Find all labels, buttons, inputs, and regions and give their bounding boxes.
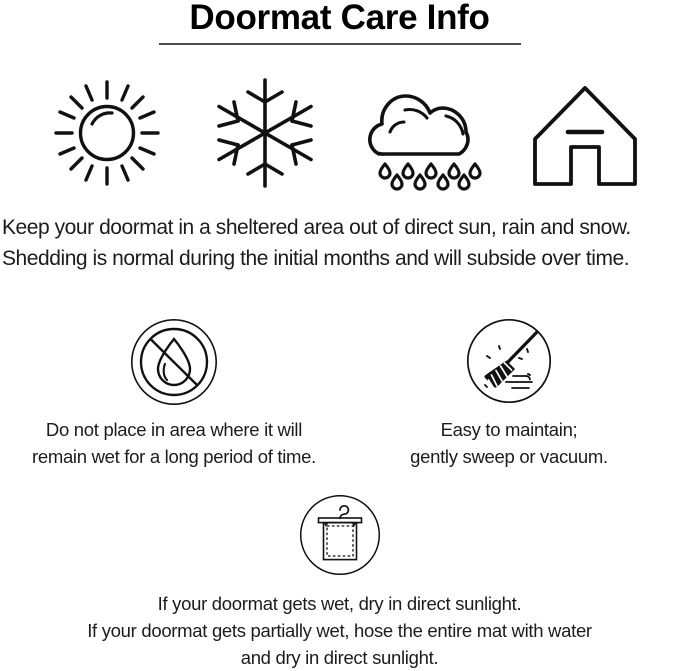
hang-dry-icon xyxy=(0,494,679,576)
drying-line-3: and dry in direct sunlight. xyxy=(0,644,679,671)
page-header: Doormat Care Info xyxy=(0,0,679,45)
care-item-line-1: Easy to maintain; xyxy=(339,416,679,443)
drying-instructions: If your doormat gets wet, dry in direct … xyxy=(0,494,679,671)
care-item-line-2: remain wet for a long period of time. xyxy=(4,443,344,470)
intro-line-2: Shedding is normal during the initial mo… xyxy=(2,243,678,274)
page-title: Doormat Care Info xyxy=(0,0,679,40)
weather-icon-cell-snowflake xyxy=(180,74,350,194)
care-item-line-1: Do not place in area where it will xyxy=(4,416,344,443)
weather-icon-row xyxy=(0,74,679,194)
care-item-no-water: Do not place in area where it will remai… xyxy=(4,318,344,470)
care-items-row: Do not place in area where it will remai… xyxy=(0,318,679,468)
drying-caption: If your doormat gets wet, dry in direct … xyxy=(0,590,679,671)
intro-paragraph: Keep your doormat in a sheltered area ou… xyxy=(2,212,678,274)
drying-line-2: If your doormat gets partially wet, hose… xyxy=(0,617,679,644)
care-item-easy-maintain: Easy to maintain; gently sweep or vacuum… xyxy=(339,318,679,470)
care-item-line-2: gently sweep or vacuum. xyxy=(339,443,679,470)
care-item-caption: Easy to maintain; gently sweep or vacuum… xyxy=(339,416,679,470)
care-item-caption: Do not place in area where it will remai… xyxy=(4,416,344,470)
no-water-badge xyxy=(4,318,344,408)
broom-badge xyxy=(339,318,679,408)
intro-line-1: Keep your doormat in a sheltered area ou… xyxy=(2,212,678,243)
weather-icon-cell-sun xyxy=(22,74,192,194)
snowflake-icon xyxy=(180,74,350,192)
weather-icon-cell-rain-cloud xyxy=(340,74,510,194)
sun-icon xyxy=(22,74,192,192)
rain-cloud-icon xyxy=(340,74,510,192)
broom-icon xyxy=(339,318,679,404)
weather-icon-cell-house xyxy=(500,74,670,194)
drying-line-1: If your doormat gets wet, dry in direct … xyxy=(0,590,679,617)
no-water-icon xyxy=(4,318,344,406)
title-underline-rule xyxy=(159,43,521,45)
hang-dry-badge xyxy=(0,494,679,586)
house-icon xyxy=(500,74,670,192)
